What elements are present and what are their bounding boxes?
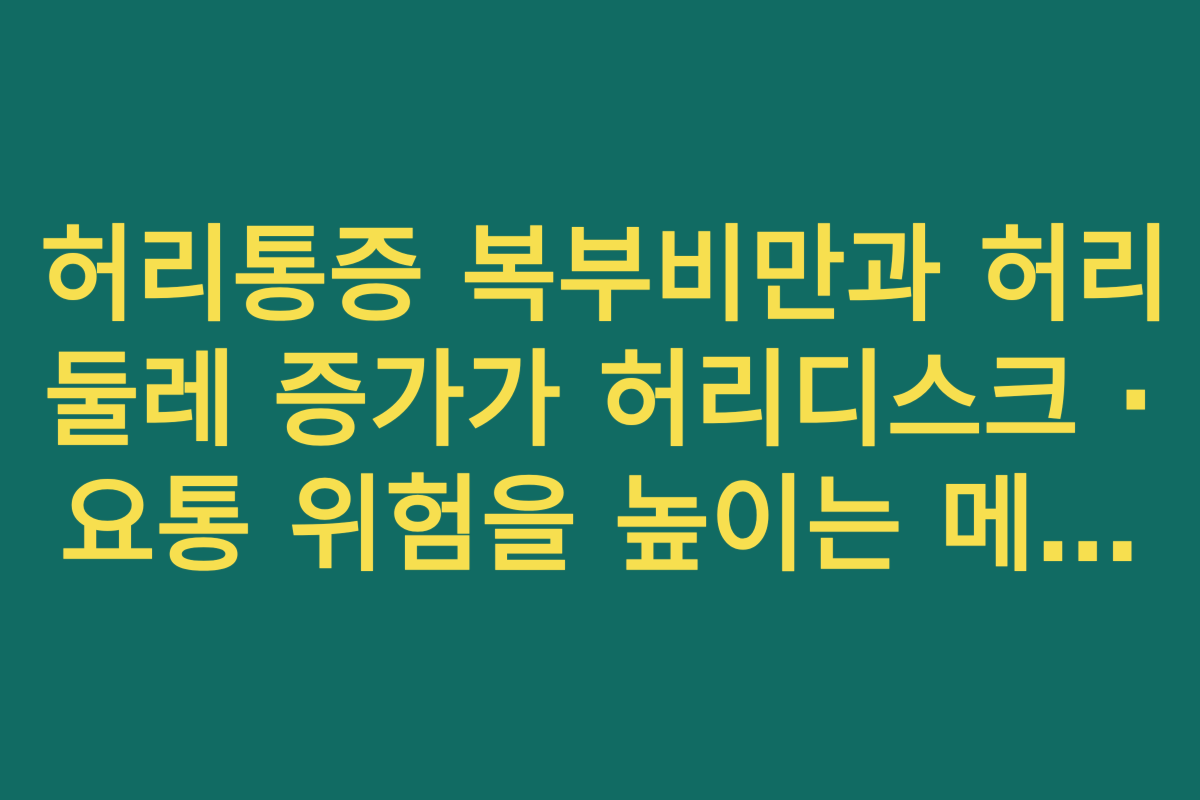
headline-line-1: 허리통증 복부비만과 허리 — [40, 213, 1160, 338]
headline-line-2: 둘레 증가가 허리디스크 · — [40, 338, 1160, 463]
headline-text-block: 허리통증 복부비만과 허리 둘레 증가가 허리디스크 · 요통 위험을 높이는 … — [0, 213, 1200, 588]
headline-card: 허리통증 복부비만과 허리 둘레 증가가 허리디스크 · 요통 위험을 높이는 … — [0, 0, 1200, 800]
headline-line-3: 요통 위험을 높이는 메… — [40, 463, 1160, 588]
